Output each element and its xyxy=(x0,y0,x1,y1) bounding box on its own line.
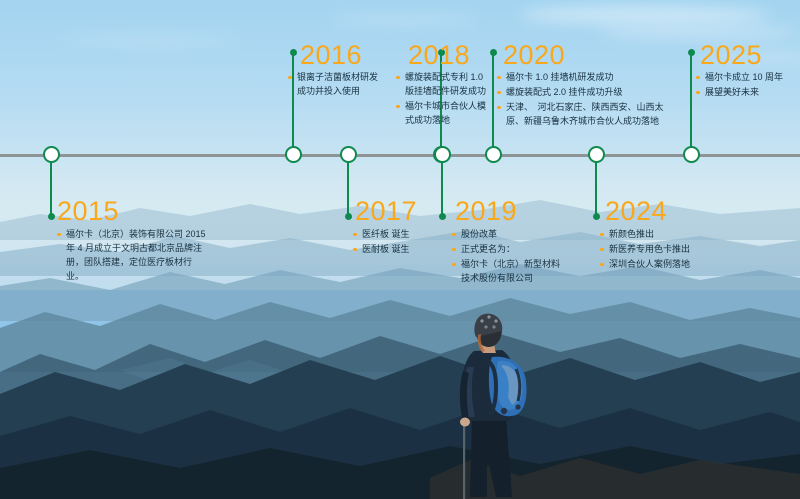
event-list-2024: 新颜色推出新医养专用色卡推出深圳合伙人案例落地 xyxy=(600,227,730,272)
timeline-axis xyxy=(0,154,800,157)
timeline-stem-endpoint xyxy=(439,213,446,220)
event-list-2017: 医纤板 诞生医耐板 诞生 xyxy=(353,227,443,257)
timeline-node-marker[interactable] xyxy=(43,146,60,163)
event-item: 福尔卡（北京）新型材料技术股份有限公司 xyxy=(452,257,562,285)
timeline-stem xyxy=(492,52,494,155)
event-item: 福尔卡（北京）装饰有限公司 2015 年 4 月成立于文明古都北京品牌注册，团队… xyxy=(57,227,207,283)
event-item: 展望美好未来 xyxy=(696,85,796,99)
event-list-2016: 银离子洁菌板材研发成功并投入使用 xyxy=(288,70,384,99)
year-label-2018: 2018 xyxy=(408,42,470,69)
timeline-node-marker[interactable] xyxy=(434,146,451,163)
timeline-node-marker[interactable] xyxy=(485,146,502,163)
event-list-2015: 福尔卡（北京）装饰有限公司 2015 年 4 月成立于文明古都北京品牌注册，团队… xyxy=(57,227,207,284)
timeline-stem-endpoint xyxy=(688,49,695,56)
event-item: 福尔卡成立 10 周年 xyxy=(696,70,796,84)
event-item: 螺旋装配式 2.0 挂件成功升级 xyxy=(497,85,677,99)
event-item: 新医养专用色卡推出 xyxy=(600,242,730,256)
event-item: 银离子洁菌板材研发成功并投入使用 xyxy=(288,70,384,98)
event-item: 天津、 河北石家庄、陕西西安、山西太原、新疆乌鲁木齐城市合伙人成功落地 xyxy=(497,100,677,128)
timeline-stem-endpoint xyxy=(345,213,352,220)
year-label-2016: 2016 xyxy=(300,42,362,69)
event-item: 医耐板 诞生 xyxy=(353,242,443,256)
event-list-2025: 福尔卡成立 10 周年展望美好未来 xyxy=(696,70,796,100)
timeline-stem xyxy=(50,155,52,217)
event-item: 深圳合伙人案例落地 xyxy=(600,257,730,271)
event-item: 医纤板 诞生 xyxy=(353,227,443,241)
cloud-wisp xyxy=(600,26,800,39)
timeline-node-marker[interactable] xyxy=(340,146,357,163)
event-list-2018: 螺旋装配式专利 1.0 版挂墙配件研发成功福尔卡城市合伙人模式成功落地 xyxy=(396,70,492,128)
cloud-wisp xyxy=(330,14,480,25)
timeline-stem-endpoint xyxy=(290,49,297,56)
event-item: 正式更名为： xyxy=(452,242,562,256)
event-item: 螺旋装配式专利 1.0 版挂墙配件研发成功 xyxy=(396,70,492,98)
timeline-stem-endpoint xyxy=(593,213,600,220)
event-item: 新颜色推出 xyxy=(600,227,730,241)
timeline-stem xyxy=(690,52,692,155)
year-label-2015: 2015 xyxy=(57,198,119,225)
event-item: 福尔卡 1.0 挂墙机研发成功 xyxy=(497,70,677,84)
timeline-node-marker[interactable] xyxy=(285,146,302,163)
cloud-wisp xyxy=(520,6,770,24)
timeline-stem xyxy=(347,155,349,217)
year-label-2019: 2019 xyxy=(455,198,517,225)
event-list-2020: 福尔卡 1.0 挂墙机研发成功螺旋装配式 2.0 挂件成功升级天津、 河北石家庄… xyxy=(497,70,677,129)
year-label-2017: 2017 xyxy=(355,198,417,225)
year-label-2025: 2025 xyxy=(700,42,762,69)
timeline-node-marker[interactable] xyxy=(588,146,605,163)
timeline-stem-endpoint xyxy=(490,49,497,56)
year-label-2024: 2024 xyxy=(605,198,667,225)
cloud-wisp xyxy=(60,34,240,46)
timeline-stem xyxy=(441,155,443,217)
event-item: 股份改革 xyxy=(452,227,562,241)
mountain-ridge-foreground xyxy=(0,350,800,499)
timeline-node-marker[interactable] xyxy=(683,146,700,163)
hiker-figure xyxy=(430,305,560,499)
event-list-2019: 股份改革正式更名为：福尔卡（北京）新型材料技术股份有限公司 xyxy=(452,227,562,286)
timeline-stem xyxy=(292,52,294,155)
timeline-stem xyxy=(595,155,597,217)
event-item: 福尔卡城市合伙人模式成功落地 xyxy=(396,99,492,127)
timeline-stem-endpoint xyxy=(48,213,55,220)
timeline-infographic: 2015福尔卡（北京）装饰有限公司 2015 年 4 月成立于文明古都北京品牌注… xyxy=(0,0,800,499)
year-label-2020: 2020 xyxy=(503,42,565,69)
